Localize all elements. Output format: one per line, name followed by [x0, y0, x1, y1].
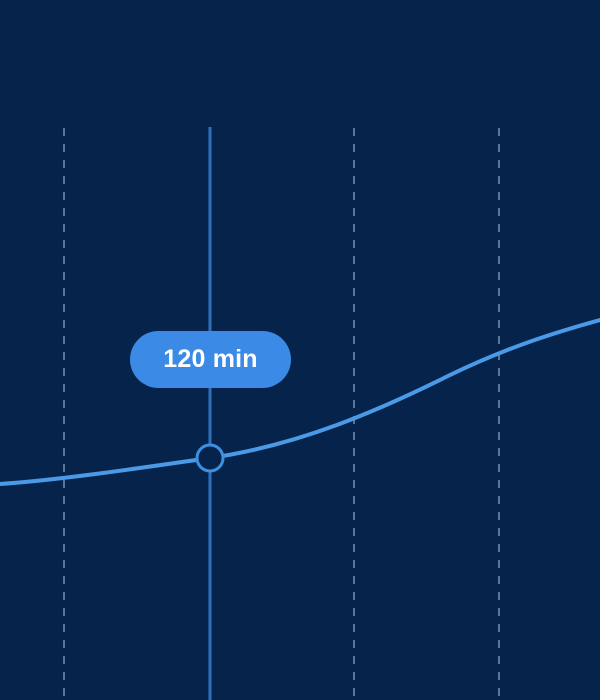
line-chart-svg	[0, 0, 600, 700]
data-point-marker[interactable]	[197, 445, 223, 471]
chart-canvas: 120 min	[0, 0, 600, 700]
tooltip-pill[interactable]: 120 min	[130, 331, 291, 388]
tooltip-value-label: 120 min	[163, 347, 258, 372]
